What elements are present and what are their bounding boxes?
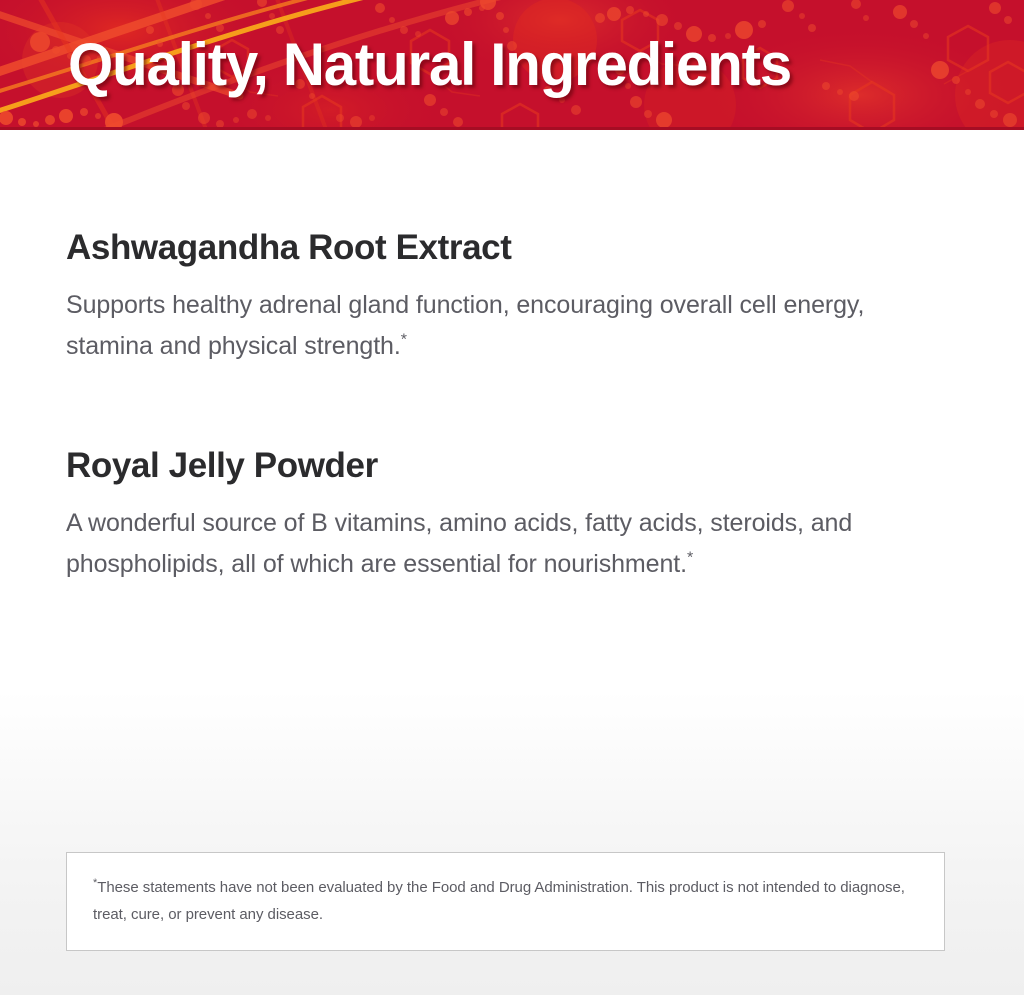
ingredient-description-text: A wonderful source of B vitamins, amino … [66, 509, 852, 578]
ingredients-list: Ashwagandha Root Extract Supports health… [0, 127, 1024, 585]
fda-disclaimer-body: These statements have not been evaluated… [93, 879, 905, 923]
banner-title: Quality, Natural Ingredients [68, 30, 791, 100]
ingredient-description: A wonderful source of B vitamins, amino … [66, 503, 876, 585]
ingredient-description: Supports healthy adrenal gland function,… [66, 285, 876, 367]
footnote-marker: * [401, 332, 407, 349]
ingredient-item: Royal Jelly Powder A wonderful source of… [0, 445, 1024, 585]
page-banner: Quality, Natural Ingredients [0, 0, 1024, 130]
ingredient-description-text: Supports healthy adrenal gland function,… [66, 291, 864, 360]
fda-disclaimer-box: *These statements have not been evaluate… [66, 852, 945, 951]
ingredient-name: Ashwagandha Root Extract [66, 227, 958, 269]
footnote-marker: * [687, 550, 693, 567]
ingredients-page: Quality, Natural Ingredients Ashwagandha… [0, 0, 1024, 995]
ingredient-item: Ashwagandha Root Extract Supports health… [0, 227, 1024, 367]
ingredient-name: Royal Jelly Powder [66, 445, 958, 487]
fda-disclaimer-text: *These statements have not been evaluate… [93, 874, 918, 928]
